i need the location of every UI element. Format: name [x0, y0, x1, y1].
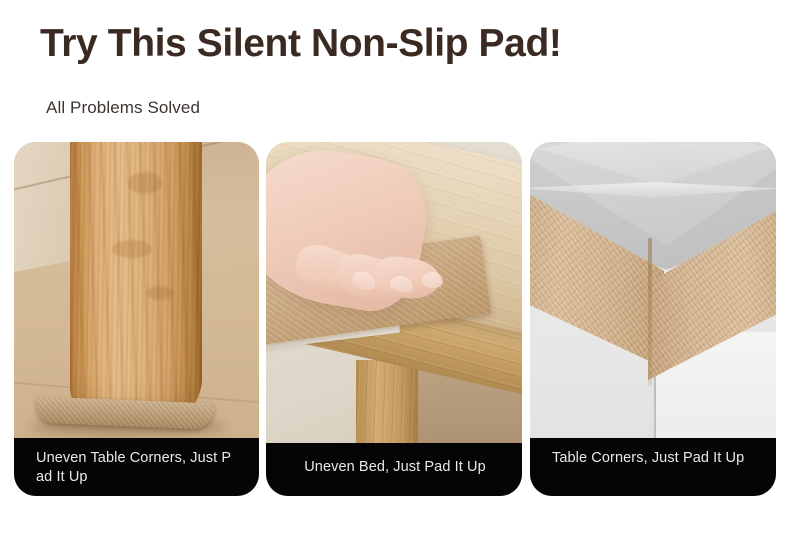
panel-caption: Table Corners, Just Pad It Up [530, 438, 776, 496]
wood-knot [112, 240, 152, 258]
page-title: Try This Silent Non-Slip Pad! [40, 22, 561, 67]
wood-knot [128, 172, 162, 194]
felt-corner-seam [648, 238, 652, 386]
wood-knot [146, 286, 174, 300]
panel-caption: Uneven Bed, Just Pad It Up [266, 443, 522, 496]
feature-panels: Uneven Table Corners, Just Pad It Up U [0, 142, 790, 498]
feature-panel-table-leg[interactable]: Uneven Table Corners, Just Pad It Up [14, 142, 259, 496]
feature-panel-bed-edge[interactable]: Uneven Bed, Just Pad It Up [266, 142, 522, 496]
panel-caption: Uneven Table Corners, Just Pad It Up [14, 438, 259, 496]
page-subtitle: All Problems Solved [46, 98, 200, 118]
feature-panel-table-corner[interactable]: Table Corners, Just Pad It Up [530, 142, 776, 496]
promo-banner: Try This Silent Non-Slip Pad! All Proble… [0, 0, 790, 535]
table-leg [70, 142, 202, 426]
